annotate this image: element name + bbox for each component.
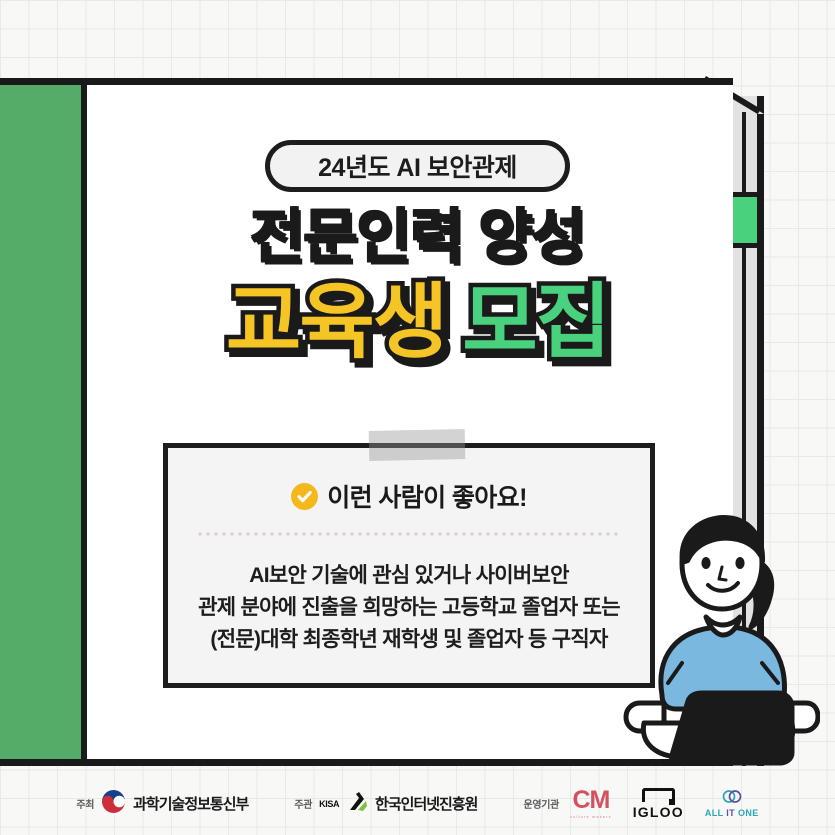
info-card-body: AI보안 기술에 관심 있거나 사이버보안 관제 분야에 진출을 희망하는 고등… (180, 560, 638, 656)
footer-group-operators: 운영기관 CM culture makers IGLOO ALL IT ONE (523, 788, 758, 819)
footer-logos: 주최 과학기술정보통신부 주관 KISA 한국인터넷진흥원 운영기관 CM cu… (0, 772, 835, 835)
double-circle-icon (720, 790, 744, 807)
woman-with-laptop-illustration (620, 505, 820, 767)
kisa-abbr-label: KISA (319, 799, 339, 809)
badge-pill: 24년도 AI 보안관제 (265, 140, 570, 192)
footer-role-label: 주최 (76, 796, 94, 811)
cm-wordmark: CM (572, 788, 609, 813)
info-card-line: AI보안 기술에 관심 있거나 사이버보안 (180, 560, 638, 592)
igloo-dome-icon (642, 788, 675, 802)
headline-word-green: 모집 (462, 282, 609, 364)
left-green-panel (0, 78, 87, 766)
footer-role-label: 주관 (294, 796, 312, 811)
tape-strip (369, 429, 466, 461)
check-circle-icon (291, 483, 318, 510)
info-card-line: 관제 분야에 진출을 희망하는 고등학교 졸업자 또는 (180, 592, 638, 624)
footer-org-name: 한국인터넷진흥원 (375, 793, 477, 814)
headline-line-2: 교육생모집 (0, 282, 835, 364)
footer-role-label: 운영기관 (523, 796, 559, 811)
all-it-one-logo: ALL IT ONE (705, 790, 759, 818)
cm-logo: CM culture makers (570, 788, 612, 819)
info-card: 이런 사람이 좋아요! AI보안 기술에 관심 있거나 사이버보안 관제 분야에… (163, 443, 655, 688)
dotted-divider (196, 532, 622, 536)
badge-label: 24년도 AI 보안관제 (318, 148, 517, 184)
all-it-one-wordmark: ALL IT ONE (705, 809, 759, 818)
igloo-wordmark: IGLOO (633, 805, 684, 819)
headline-line-1: 전문인력 양성 (0, 208, 835, 267)
headline-word-yellow: 교육생 (226, 282, 446, 364)
info-card-heading: 이런 사람이 좋아요! (168, 478, 650, 514)
taegeuk-icon (101, 789, 126, 819)
info-card-line: (전문)대학 최종학년 재학생 및 졸업자 등 구직자 (180, 624, 638, 656)
footer-group-host: 주최 과학기술정보통신부 (76, 789, 248, 819)
footer-org-name: 과학기술정보통신부 (133, 793, 248, 814)
kisa-icon (346, 790, 368, 817)
info-card-heading-text: 이런 사람이 좋아요! (327, 478, 527, 514)
igloo-logo: IGLOO (633, 788, 684, 819)
cm-subtext: culture makers (570, 815, 612, 819)
footer-group-organizer: 주관 KISA 한국인터넷진흥원 (294, 790, 477, 817)
